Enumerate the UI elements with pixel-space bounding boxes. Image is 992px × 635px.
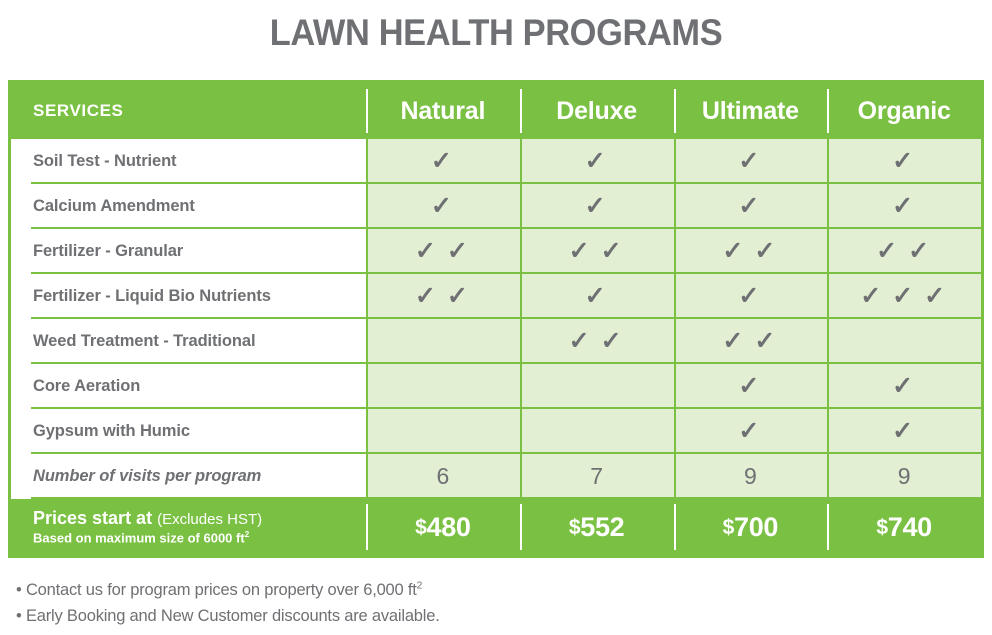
cell-ultimate: ✓: [674, 409, 828, 454]
service-label: Core Aeration: [11, 364, 366, 409]
price-amount: $480: [415, 512, 471, 543]
price-natural: $480: [366, 499, 520, 555]
checkmark-icon: ✓: [585, 194, 609, 219]
currency-symbol: $: [723, 516, 734, 539]
price-sublabel: Based on maximum size of 6000 ft2: [33, 530, 249, 547]
service-label: Fertilizer - Liquid Bio Nutrients: [11, 274, 366, 319]
checkmark-icon: ✓: [892, 149, 916, 174]
checkmark-icon: ✓ ✓: [569, 329, 625, 354]
cell-organic: ✓ ✓: [827, 229, 981, 274]
price-sublabel-superscript: 2: [245, 530, 249, 539]
price-sublabel-text: Based on maximum size of 6000 ft: [33, 530, 245, 545]
table-row: Soil Test - Nutrient ✓ ✓ ✓ ✓: [11, 139, 981, 184]
cell-ultimate: ✓: [674, 364, 828, 409]
visits-ultimate: 9: [674, 454, 828, 499]
checkmark-icon: ✓: [585, 284, 609, 309]
cell-natural: ✓: [366, 184, 520, 229]
cell-organic: ✓: [827, 139, 981, 184]
checkmark-icon: ✓: [892, 374, 916, 399]
checkmark-icon: ✓: [585, 149, 609, 174]
programs-comparison-table: SERVICES Natural Deluxe Ultimate Organic…: [8, 80, 984, 558]
footnote-item: • Early Booking and New Customer discoun…: [16, 604, 976, 630]
column-header-services: SERVICES: [11, 83, 366, 139]
page-title: LAWN HEALTH PROGRAMS: [35, 12, 958, 54]
checkmark-icon: ✓ ✓: [415, 284, 471, 309]
price-value: 740: [888, 512, 932, 542]
footnote-item: • Contact us for program prices on prope…: [16, 578, 976, 604]
cell-ultimate: ✓: [674, 274, 828, 319]
price-value: 480: [426, 512, 470, 542]
price-amount: $700: [723, 512, 779, 543]
price-label-text: Prices start at: [33, 508, 152, 528]
cell-deluxe: ✓: [520, 184, 674, 229]
checkmark-icon: ✓: [738, 149, 762, 174]
price-value: 700: [734, 512, 778, 542]
table-header-row: SERVICES Natural Deluxe Ultimate Organic: [11, 83, 981, 139]
cell-ultimate: ✓: [674, 139, 828, 184]
table-row-prices: Prices start at(Excludes HST) Based on m…: [11, 499, 981, 555]
checkmark-icon: ✓: [892, 419, 916, 444]
service-label: Weed Treatment - Traditional: [11, 319, 366, 364]
service-label: Gypsum with Humic: [11, 409, 366, 454]
cell-ultimate: ✓ ✓: [674, 229, 828, 274]
footnote-text: • Contact us for program prices on prope…: [16, 581, 417, 599]
cell-organic: ✓: [827, 409, 981, 454]
checkmark-icon: ✓ ✓: [415, 239, 471, 264]
footnote-text: • Early Booking and New Customer discoun…: [16, 607, 440, 625]
price-ultimate: $700: [674, 499, 828, 555]
cell-natural: ✓ ✓: [366, 229, 520, 274]
checkmark-icon: ✓: [738, 194, 762, 219]
cell-deluxe: ✓: [520, 274, 674, 319]
column-header-ultimate: Ultimate: [674, 83, 828, 139]
table-row: Fertilizer - Liquid Bio Nutrients ✓ ✓ ✓ …: [11, 274, 981, 319]
service-label: Fertilizer - Granular: [11, 229, 366, 274]
price-label-block: Prices start at(Excludes HST) Based on m…: [11, 499, 366, 555]
cell-deluxe: ✓: [520, 139, 674, 184]
visits-organic: 9: [827, 454, 981, 499]
visits-natural: 6: [366, 454, 520, 499]
checkmark-icon: ✓ ✓: [569, 239, 625, 264]
cell-organic: ✓: [827, 364, 981, 409]
cell-natural: [366, 319, 520, 364]
checkmark-icon: ✓ ✓: [876, 239, 932, 264]
checkmark-icon: ✓: [431, 194, 455, 219]
cell-organic: ✓ ✓ ✓: [827, 274, 981, 319]
price-amount: $552: [569, 512, 625, 543]
column-header-natural: Natural: [366, 83, 520, 139]
cell-natural: ✓ ✓: [366, 274, 520, 319]
table-row-visits: Number of visits per program 6 7 9 9: [11, 454, 981, 499]
table-row: Core Aeration ✓ ✓: [11, 364, 981, 409]
cell-ultimate: ✓ ✓: [674, 319, 828, 364]
cell-deluxe: ✓ ✓: [520, 229, 674, 274]
price-organic: $740: [827, 499, 981, 555]
service-label: Calcium Amendment: [11, 184, 366, 229]
price-label: Prices start at(Excludes HST): [33, 508, 262, 529]
price-value: 552: [580, 512, 624, 542]
checkmark-icon: ✓ ✓: [722, 239, 778, 264]
cell-deluxe: ✓ ✓: [520, 319, 674, 364]
cell-organic: ✓: [827, 184, 981, 229]
cell-ultimate: ✓: [674, 184, 828, 229]
table-row: Calcium Amendment ✓ ✓ ✓ ✓: [11, 184, 981, 229]
price-amount: $740: [876, 512, 932, 543]
table-row: Weed Treatment - Traditional ✓ ✓ ✓ ✓: [11, 319, 981, 364]
checkmark-icon: ✓: [738, 374, 762, 399]
column-header-deluxe: Deluxe: [520, 83, 674, 139]
checkmark-icon: ✓: [738, 419, 762, 444]
price-label-note: (Excludes HST): [157, 511, 262, 528]
cell-deluxe: [520, 409, 674, 454]
checkmark-icon: ✓: [892, 194, 916, 219]
lawn-health-programs-page: LAWN HEALTH PROGRAMS SERVICES Natural De…: [0, 0, 992, 635]
currency-symbol: $: [876, 516, 887, 539]
table-row: Gypsum with Humic ✓ ✓: [11, 409, 981, 454]
checkmark-icon: ✓: [431, 149, 455, 174]
footnotes: • Contact us for program prices on prope…: [16, 578, 976, 629]
cell-deluxe: [520, 364, 674, 409]
checkmark-icon: ✓ ✓: [722, 329, 778, 354]
price-deluxe: $552: [520, 499, 674, 555]
footnote-superscript: 2: [417, 581, 422, 592]
checkmark-icon: ✓: [738, 284, 762, 309]
service-label: Soil Test - Nutrient: [11, 139, 366, 184]
currency-symbol: $: [569, 516, 580, 539]
cell-natural: [366, 409, 520, 454]
checkmark-icon: ✓ ✓ ✓: [860, 284, 948, 309]
table-row: Fertilizer - Granular ✓ ✓ ✓ ✓ ✓ ✓ ✓ ✓: [11, 229, 981, 274]
cell-organic: [827, 319, 981, 364]
cell-natural: ✓: [366, 139, 520, 184]
currency-symbol: $: [415, 516, 426, 539]
cell-natural: [366, 364, 520, 409]
visits-deluxe: 7: [520, 454, 674, 499]
column-header-organic: Organic: [827, 83, 981, 139]
visits-label: Number of visits per program: [11, 454, 366, 499]
